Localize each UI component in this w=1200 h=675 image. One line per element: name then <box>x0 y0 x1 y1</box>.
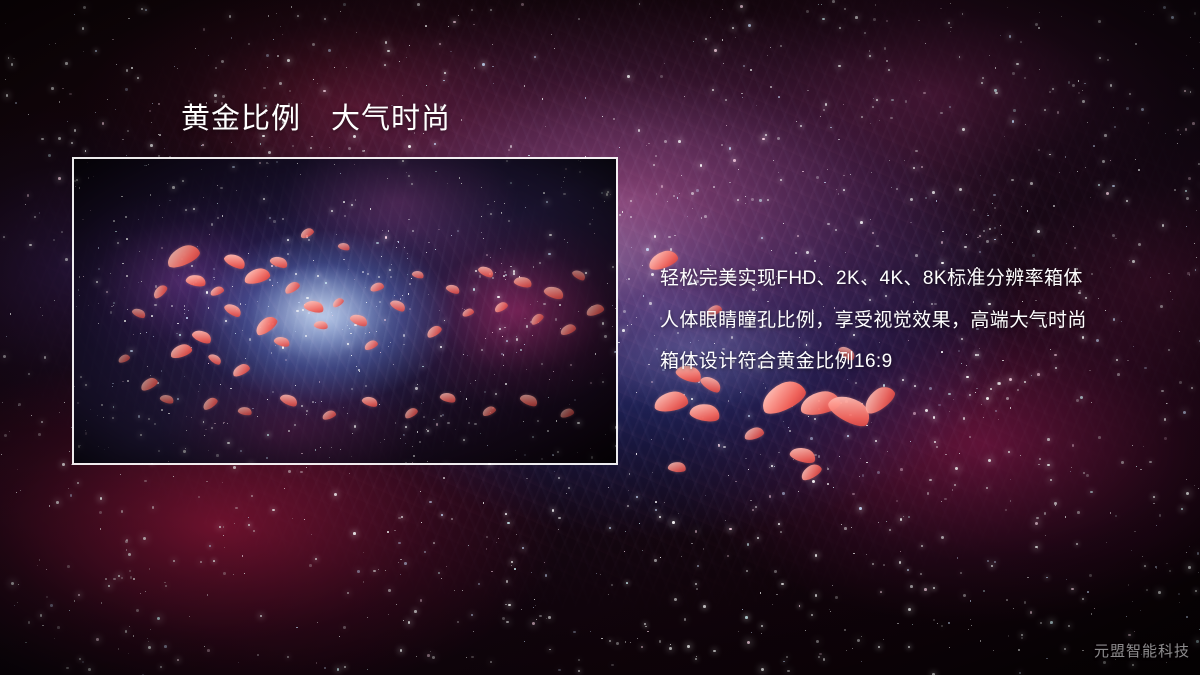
framed-image <box>72 157 618 465</box>
petal <box>798 462 823 483</box>
body-line-3: 箱体设计符合黄金比例16:9 <box>660 341 1160 383</box>
petal <box>743 426 765 442</box>
frame-vignette <box>74 159 616 463</box>
petal <box>689 401 722 424</box>
presentation-slide: 黄金比例 大气时尚 轻松完美实现FHD、2K、4K、8K标准分辨率箱体 人体眼睛… <box>0 0 1200 675</box>
petal <box>653 390 689 414</box>
framed-image-content <box>74 159 616 463</box>
petal <box>788 444 817 465</box>
body-line-2: 人体眼睛瞳孔比例，享受视觉效果，高端大气时尚 <box>660 300 1160 342</box>
slide-body-text: 轻松完美实现FHD、2K、4K、8K标准分辨率箱体 人体眼睛瞳孔比例，享受视觉效… <box>660 258 1160 383</box>
body-line-1: 轻松完美实现FHD、2K、4K、8K标准分辨率箱体 <box>660 258 1160 300</box>
petal <box>667 461 686 473</box>
watermark: 元盟智能科技 <box>1094 640 1190 661</box>
slide-title: 黄金比例 大气时尚 <box>181 102 451 136</box>
